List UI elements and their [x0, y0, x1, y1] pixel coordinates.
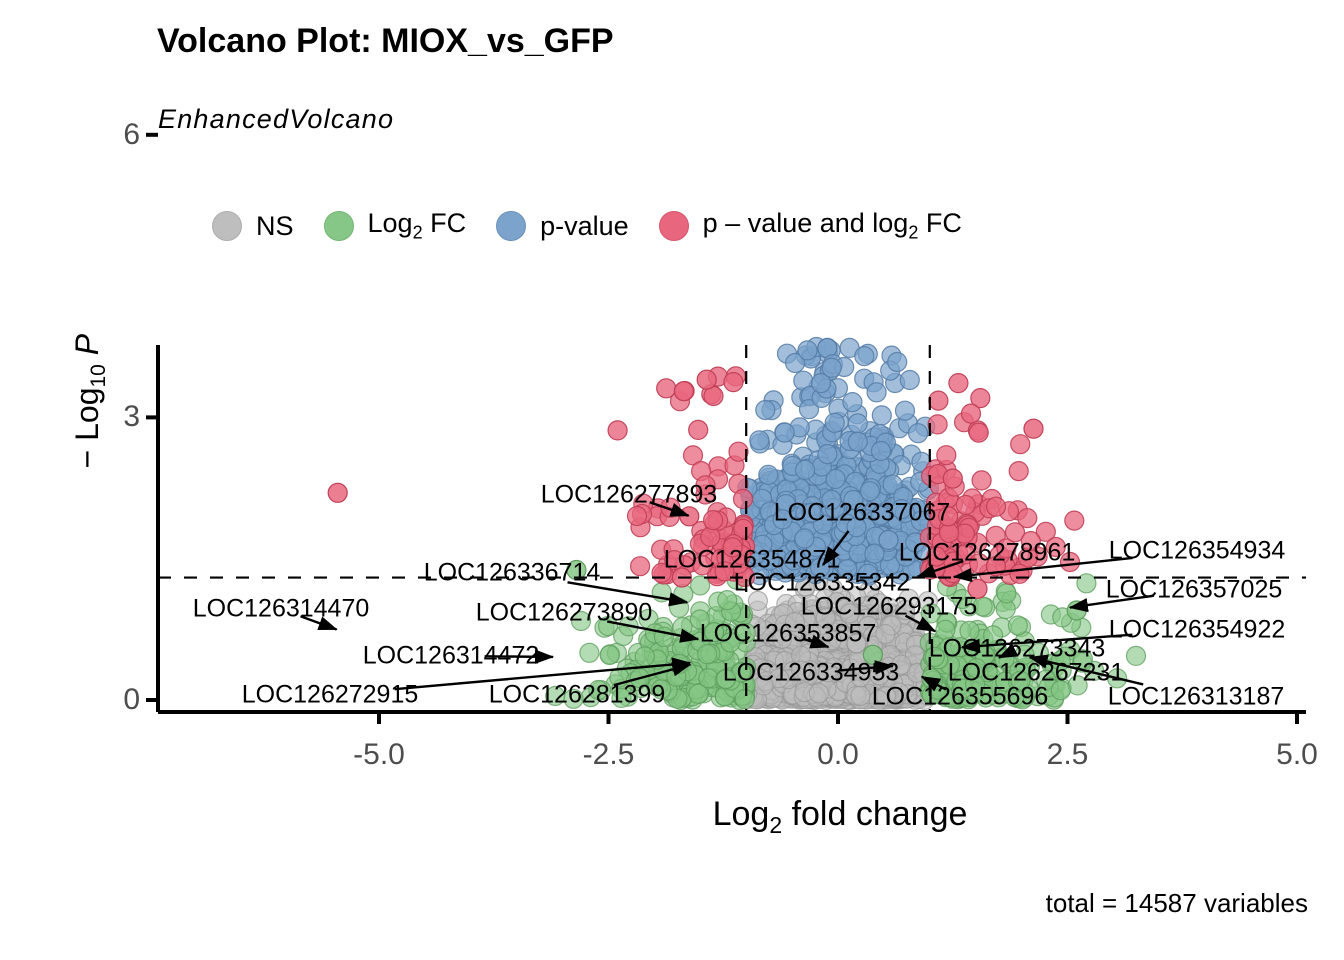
scatter-point	[855, 347, 874, 366]
scatter-point	[848, 432, 867, 451]
scatter-point	[775, 423, 794, 442]
scatter-point	[1008, 616, 1027, 635]
scatter-point	[697, 370, 716, 389]
scatter-point	[1127, 646, 1146, 665]
scatter-point	[987, 497, 1006, 516]
scatter-point	[580, 643, 599, 662]
gene-label: LOC126313187	[1108, 683, 1285, 712]
scatter-point	[1009, 462, 1028, 481]
gene-label: LOC126314472	[363, 642, 540, 671]
scatter-point	[865, 544, 884, 563]
scatter-point	[909, 424, 928, 443]
gene-label: LOC126277893	[541, 481, 718, 510]
scatter-point	[900, 371, 919, 390]
gene-label: LOC126293175	[801, 593, 978, 622]
scatter-point	[943, 469, 962, 488]
gene-label: LOC126353857	[700, 620, 877, 649]
gene-label: LOC126357025	[1106, 576, 1283, 605]
scatter-point	[822, 358, 841, 377]
scatter-point	[937, 446, 956, 465]
scatter-point	[972, 471, 991, 490]
gene-label: LOC126314470	[193, 595, 370, 624]
scatter-point	[657, 379, 676, 398]
scatter-point	[691, 576, 710, 595]
scatter-point	[635, 647, 654, 666]
scatter-point	[949, 374, 968, 393]
scatter-point	[796, 460, 815, 479]
gene-label: LOC126354934	[1109, 537, 1286, 566]
scatter-point	[896, 401, 915, 420]
gene-label: LOC126354922	[1109, 616, 1286, 645]
scatter-point	[680, 507, 699, 526]
scatter-point	[997, 584, 1016, 603]
scatter-point	[928, 415, 947, 434]
scatter-point	[1011, 435, 1030, 454]
scatter-point	[756, 401, 775, 420]
scatter-point	[1067, 601, 1086, 620]
scatter-point	[872, 442, 891, 461]
scatter-point	[724, 373, 743, 392]
gene-label: LOC126273890	[476, 599, 653, 628]
scatter-point	[328, 483, 347, 502]
scatter-point	[704, 511, 723, 530]
scatter-point	[879, 530, 898, 549]
gene-label: LOC126278961	[899, 539, 1076, 568]
scatter-point	[825, 413, 844, 432]
scatter-point	[798, 341, 817, 360]
scatter-point	[929, 391, 948, 410]
scatter-point	[674, 382, 693, 401]
scatter-point	[956, 496, 975, 515]
scatter-point	[608, 421, 627, 440]
gene-label: LOC126272915	[242, 681, 419, 710]
scatter-point	[1065, 511, 1084, 530]
scatter-point	[759, 465, 778, 484]
scatter-point	[851, 686, 870, 705]
gene-label: LOC126337067	[774, 499, 951, 528]
scatter-point	[689, 420, 708, 439]
scatter-point	[701, 527, 720, 546]
scatter-point	[699, 669, 718, 688]
scatter-point	[962, 404, 981, 423]
scatter-point	[848, 414, 867, 433]
gene-label: LOC126281399	[489, 681, 666, 710]
scatter-point	[843, 393, 862, 412]
scatter-point	[969, 423, 988, 442]
scatter-point	[876, 625, 895, 644]
scatter-point	[872, 406, 891, 425]
scatter-point	[735, 690, 754, 709]
scatter-point	[750, 431, 769, 450]
scatter-point	[600, 646, 619, 665]
total-variables-caption: total = 14587 variables	[1046, 888, 1308, 919]
scatter-point	[631, 557, 650, 576]
scatter-point	[734, 490, 753, 509]
gene-label: LOC126267231	[948, 659, 1125, 688]
volcano-plot-figure: Volcano Plot: MIOX_vs_GFP EnhancedVolcan…	[0, 0, 1344, 960]
scatter-point	[1024, 419, 1043, 438]
gene-label: LOC126336714	[424, 559, 601, 588]
scatter-point	[818, 445, 837, 464]
scatter-point	[867, 383, 886, 402]
scatter-point	[888, 353, 907, 372]
